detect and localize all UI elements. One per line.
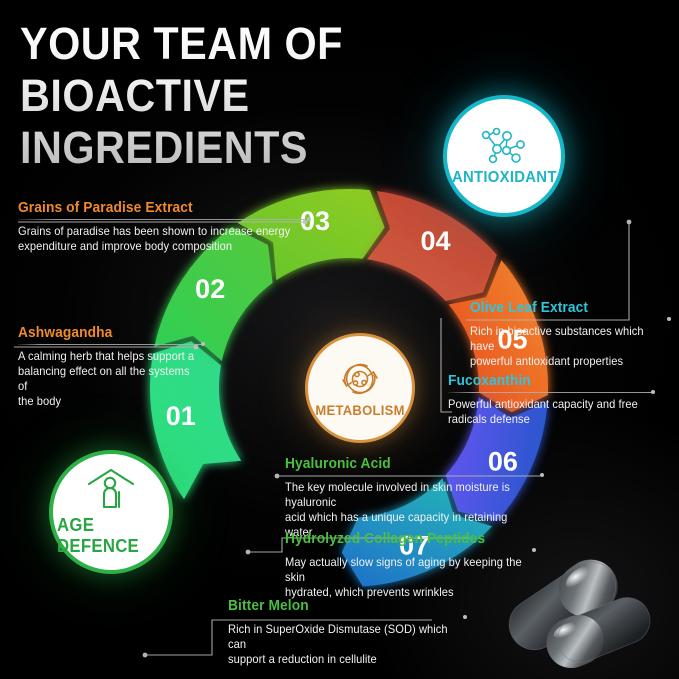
callout-rule <box>18 344 204 345</box>
badge-age-defence-label: AGE DEFENCE <box>57 515 165 557</box>
callout-title: Ashwagandha <box>18 325 195 341</box>
ring-number-04: 04 <box>420 226 450 256</box>
callout-fucoxanthin: Fucoxanthin Powerful antioxidant capacit… <box>448 373 654 427</box>
callout-body: Rich in bioactive substances which have … <box>470 324 662 369</box>
badge-metabolism-label: METABOLISM <box>315 402 404 418</box>
callout-title: Hydrolyzed Collagen Peptides <box>285 531 523 547</box>
callout-rule <box>285 475 543 476</box>
person-under-roof-icon <box>83 467 139 513</box>
callout-bitter-melon: Bitter Melon Rich in SuperOxide Dismutas… <box>228 598 466 667</box>
callout-title: Hyaluronic Acid <box>285 456 530 472</box>
callout-body: Powerful antioxidant capacity and free r… <box>448 397 646 427</box>
callout-olive-leaf-extract: Olive Leaf Extract Rich in bioactive sub… <box>470 300 670 369</box>
callout-title: Olive Leaf Extract <box>470 300 660 316</box>
callout-body: Grains of paradise has been shown to inc… <box>18 224 298 254</box>
callout-body: A calming herb that helps support a bala… <box>18 349 197 409</box>
badge-antioxidant[interactable]: ANTIOXIDANT <box>443 95 565 217</box>
callout-title: Grains of Paradise Extract <box>18 200 295 216</box>
metabolism-cycle-icon <box>337 359 383 399</box>
badge-metabolism[interactable]: METABOLISM <box>305 333 415 443</box>
callout-title: Bitter Melon <box>228 598 454 614</box>
callout-body: Rich in SuperOxide Dismutase (SOD) which… <box>228 622 456 667</box>
callout-ashwagandha: Ashwagandha A calming herb that helps su… <box>18 325 204 409</box>
ring-number-02: 02 <box>195 274 225 304</box>
callout-rule <box>448 392 654 393</box>
infographic-canvas: YOUR TEAM OF BIOACTIVE INGREDIENTS <box>0 0 679 679</box>
badge-antioxidant-label: ANTIOXIDANT <box>452 169 557 187</box>
callout-body: May actually slow signs of aging by keep… <box>285 555 525 600</box>
callout-rule <box>228 617 466 618</box>
molecule-icon <box>475 126 533 166</box>
callout-rule <box>470 319 670 320</box>
callout-grains-of-paradise-extract: Grains of Paradise Extract Grains of par… <box>18 200 310 254</box>
callout-hyaluronic-acid: Hyaluronic Acid The key molecule involve… <box>285 456 543 540</box>
callout-title: Fucoxanthin <box>448 373 644 389</box>
badge-age-defence[interactable]: AGE DEFENCE <box>49 450 173 574</box>
capsules-photo <box>496 540 671 670</box>
callout-rule <box>18 219 310 220</box>
